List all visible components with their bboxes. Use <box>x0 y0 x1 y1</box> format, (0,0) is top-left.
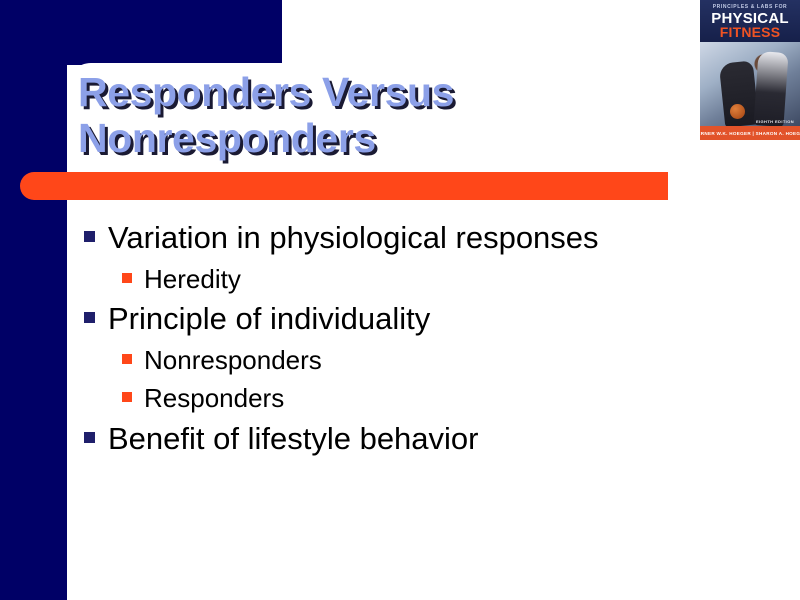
navy-header-block <box>0 0 282 65</box>
bullet-item: Heredity <box>84 262 724 297</box>
bullet-text: Nonresponders <box>144 343 322 378</box>
bullet-item: Responders <box>84 381 724 416</box>
bullet-text: Heredity <box>144 262 241 297</box>
bullet-item: Variation in physiological responses <box>84 218 724 259</box>
bullet-square-icon <box>122 392 132 402</box>
navy-sidebar-bar <box>0 0 67 600</box>
bullet-item: Principle of individuality <box>84 299 724 340</box>
bullet-text: Benefit of lifestyle behavior <box>108 419 479 460</box>
orange-accent-bar <box>20 172 668 200</box>
bullet-square-icon <box>84 432 95 443</box>
book-cover-authors: Werner W.K. Hoeger | Sharon A. Hoeger <box>700 126 800 140</box>
book-cover-photo <box>700 42 800 126</box>
bullet-square-icon <box>84 312 95 323</box>
book-cover-title-line-2: FITNESS <box>700 25 800 39</box>
bullet-item: Benefit of lifestyle behavior <box>84 419 724 460</box>
photo-athlete-background <box>753 51 788 126</box>
bullet-text: Variation in physiological responses <box>108 218 599 259</box>
bullet-text: Responders <box>144 381 284 416</box>
bullet-item: Nonresponders <box>84 343 724 378</box>
book-cover-edition: Eighth Edition <box>756 119 794 124</box>
bullet-square-icon <box>84 231 95 242</box>
bullet-list: Variation in physiological responses Her… <box>84 218 724 462</box>
bullet-square-icon <box>122 273 132 283</box>
bullet-text: Principle of individuality <box>108 299 430 340</box>
book-cover-title-block: Principles & Labs for PHYSICAL FITNESS <box>700 0 800 42</box>
presentation-slide: Responders Versus Nonresponders Variatio… <box>0 0 800 600</box>
book-cover-thumbnail: Principles & Labs for PHYSICAL FITNESS E… <box>700 0 800 140</box>
basketball-icon <box>730 104 745 119</box>
bullet-square-icon <box>122 354 132 364</box>
slide-title: Responders Versus Nonresponders <box>78 70 688 162</box>
